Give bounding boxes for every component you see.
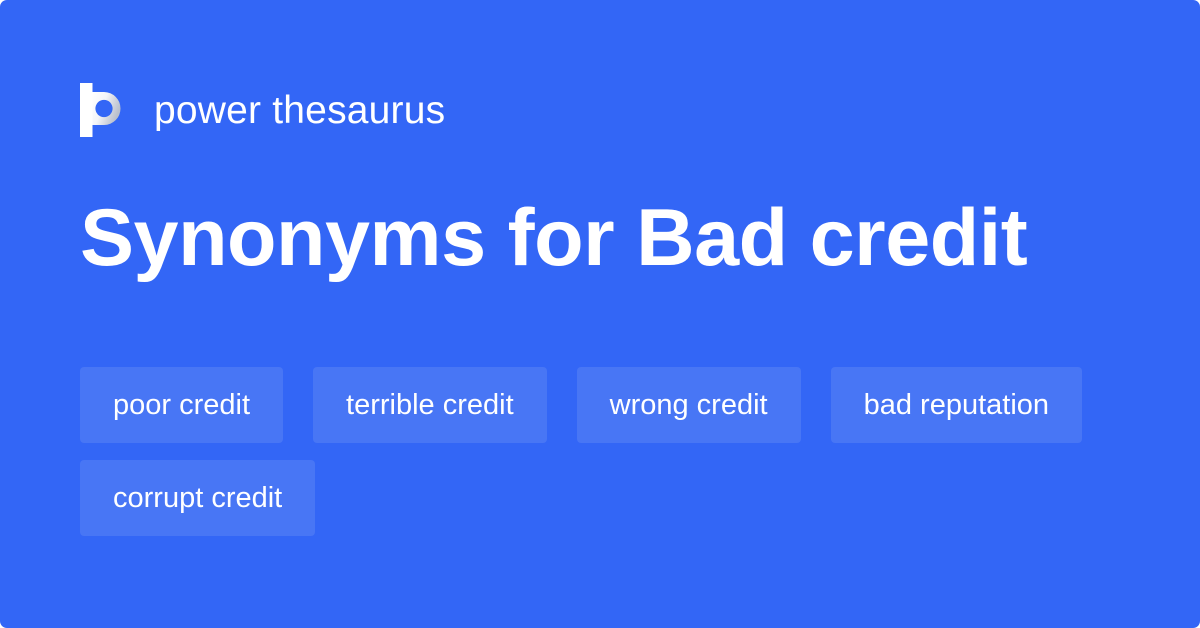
synonym-chip[interactable]: bad reputation [831,367,1082,443]
synonym-chip[interactable]: corrupt credit [80,460,315,536]
brand-name: power thesaurus [154,91,445,130]
page-title: Synonyms for Bad credit [80,196,1027,282]
synonym-chip-list: poor credit terrible credit wrong credit… [80,367,1120,536]
brand-lockup[interactable]: power thesaurus [80,80,445,140]
synonym-chip[interactable]: terrible credit [313,367,547,443]
share-card: power thesaurus Synonyms for Bad credit … [0,0,1200,628]
synonym-chip[interactable]: poor credit [80,367,283,443]
power-thesaurus-b-logo-icon [80,83,126,137]
synonym-chip[interactable]: wrong credit [577,367,801,443]
